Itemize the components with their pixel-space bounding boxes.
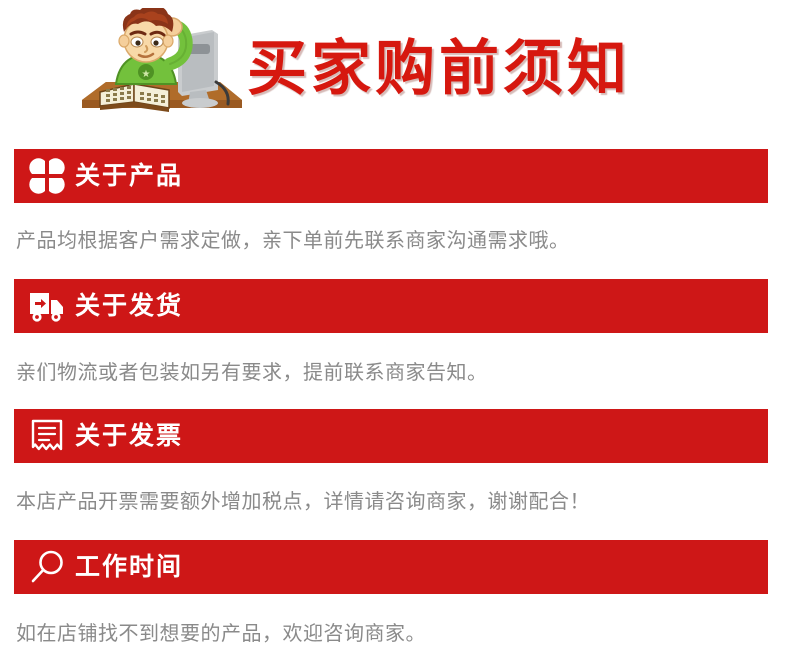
invoice-receipt-icon bbox=[28, 417, 66, 455]
section-title: 关于发货 bbox=[75, 291, 183, 321]
section-title: 关于发票 bbox=[75, 421, 183, 451]
section-banner: 工作时间 bbox=[14, 540, 768, 594]
svg-text:★: ★ bbox=[142, 69, 151, 80]
section-banner: 关于发货 bbox=[14, 279, 768, 333]
section-about-shipping: 关于发货 亲们物流或者包装如另有要求，提前联系商家告知。 bbox=[0, 279, 790, 387]
section-body-text: 产品均根据客户需求定做，亲下单前先联系商家沟通需求哦。 bbox=[0, 227, 790, 255]
page-title: 买家购前须知 bbox=[247, 33, 631, 105]
section-title: 工作时间 bbox=[75, 552, 183, 582]
four-petal-clover-icon bbox=[28, 157, 66, 195]
section-banner: 关于发票 bbox=[14, 409, 768, 463]
person-reading-at-desk-with-computer-illustration: ★ bbox=[70, 8, 245, 130]
section-working-hours: 工作时间 如在店铺找不到想要的产品，欢迎咨询商家。 bbox=[0, 540, 790, 648]
section-about-invoice: 关于发票 本店产品开票需要额外增加税点，详情请咨询商家，谢谢配合！ bbox=[0, 409, 790, 516]
section-banner: 关于产品 bbox=[14, 149, 768, 203]
section-body-text: 如在店铺找不到想要的产品，欢迎咨询商家。 bbox=[0, 620, 790, 648]
section-body-text: 亲们物流或者包装如另有要求，提前联系商家告知。 bbox=[0, 359, 790, 387]
magnifier-icon bbox=[28, 548, 66, 586]
page-header: ★ bbox=[0, 0, 790, 140]
section-body-text: 本店产品开票需要额外增加税点，详情请咨询商家，谢谢配合！ bbox=[0, 488, 790, 516]
section-title: 关于产品 bbox=[75, 161, 183, 191]
delivery-truck-icon bbox=[28, 287, 66, 325]
section-about-product: 关于产品 产品均根据客户需求定做，亲下单前先联系商家沟通需求哦。 bbox=[0, 149, 790, 255]
buyer-notice-page: ★ bbox=[0, 0, 790, 643]
